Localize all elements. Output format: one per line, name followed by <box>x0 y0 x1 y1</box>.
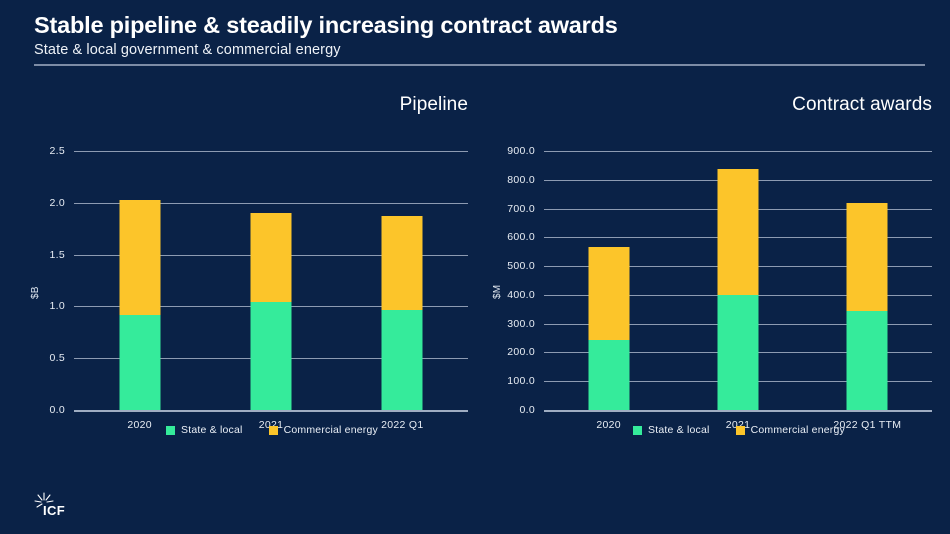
y-axis-tick-label: 2.0 <box>50 197 66 209</box>
bar-segment-commercial-energy[interactable] <box>382 216 423 309</box>
page-subtitle: State & local government & commercial en… <box>34 42 925 58</box>
legend-item-commercial-energy[interactable]: Commercial energy <box>269 424 378 436</box>
y-axis-tick-label: 500.0 <box>507 260 535 272</box>
bar-segment-state-local[interactable] <box>119 315 160 410</box>
page-title: Stable pipeline & steadily increasing co… <box>34 12 925 39</box>
header-divider <box>34 64 925 66</box>
bar-stack[interactable] <box>119 151 160 410</box>
legend-item-state-local[interactable]: State & local <box>633 424 710 436</box>
y-axis-label-contract-awards: $M <box>492 285 503 299</box>
bar-stack[interactable] <box>382 151 423 410</box>
bar-segment-state-local[interactable] <box>847 311 888 410</box>
chart-panel-pipeline: Pipeline $B 0.00.51.01.52.02.52020202120… <box>18 94 480 454</box>
chart-panel-contract-awards: Contract awards $M 0.0100.0200.0300.0400… <box>482 94 944 454</box>
bar-stack[interactable] <box>847 151 888 410</box>
legend-swatch-state-local <box>166 426 175 435</box>
bar-segment-commercial-energy[interactable] <box>847 203 888 311</box>
y-axis-tick-label: 900.0 <box>507 145 535 157</box>
legend-item-commercial-energy[interactable]: Commercial energy <box>736 424 845 436</box>
legend-label-commercial-energy: Commercial energy <box>751 424 845 436</box>
legend-label-commercial-energy: Commercial energy <box>284 424 378 436</box>
chart-title-contract-awards: Contract awards <box>792 94 932 116</box>
bar-stack[interactable] <box>588 151 629 410</box>
y-axis-tick-label: 0.0 <box>520 404 536 416</box>
bar-segment-commercial-energy[interactable] <box>251 213 292 302</box>
legend-label-state-local: State & local <box>648 424 710 436</box>
bar-segment-state-local[interactable] <box>588 340 629 410</box>
plot-area-pipeline: $B 0.00.51.01.52.02.5202020212022 Q1 <box>74 151 468 410</box>
bar-segment-commercial-energy[interactable] <box>588 247 629 340</box>
y-axis-tick-label: 600.0 <box>507 231 535 243</box>
bar-segment-state-local[interactable] <box>718 295 759 410</box>
bar-segment-state-local[interactable] <box>251 302 292 410</box>
bar-segment-commercial-energy[interactable] <box>119 200 160 315</box>
y-axis-tick-label: 1.0 <box>50 300 66 312</box>
bar-stack[interactable] <box>718 151 759 410</box>
y-axis-tick-label: 300.0 <box>507 318 535 330</box>
gridline: 0.0 <box>544 410 932 412</box>
bar-segment-commercial-energy[interactable] <box>718 169 759 294</box>
y-axis-tick-label: 400.0 <box>507 289 535 301</box>
legend-swatch-commercial-energy <box>736 426 745 435</box>
y-axis-tick-label: 0.5 <box>50 352 66 364</box>
y-axis-tick-label: 800.0 <box>507 174 535 186</box>
gridline: 0.0 <box>74 410 468 412</box>
legend-item-state-local[interactable]: State & local <box>166 424 243 436</box>
chart-title-pipeline: Pipeline <box>400 94 468 116</box>
y-axis-tick-label: 0.0 <box>50 404 66 416</box>
logo-wordmark: ICF <box>43 503 65 518</box>
bar-segment-state-local[interactable] <box>382 310 423 410</box>
legend-swatch-state-local <box>633 426 642 435</box>
legend-contract-awards: State & local Commercial energy <box>482 424 944 436</box>
y-axis-tick-label: 100.0 <box>507 375 535 387</box>
plot-area-contract-awards: $M 0.0100.0200.0300.0400.0500.0600.0700.… <box>544 151 932 410</box>
slide-canvas: Stable pipeline & steadily increasing co… <box>0 0 950 534</box>
legend-swatch-commercial-energy <box>269 426 278 435</box>
y-axis-tick-label: 2.5 <box>50 145 66 157</box>
legend-label-state-local: State & local <box>181 424 243 436</box>
icf-logo: ICF <box>32 490 78 522</box>
y-axis-label-pipeline: $B <box>30 286 41 299</box>
y-axis-tick-label: 700.0 <box>507 203 535 215</box>
y-axis-tick-label: 1.5 <box>50 249 66 261</box>
slide-header: Stable pipeline & steadily increasing co… <box>34 12 925 58</box>
bar-stack[interactable] <box>251 151 292 410</box>
legend-pipeline: State & local Commercial energy <box>18 424 480 436</box>
y-axis-tick-label: 200.0 <box>507 346 535 358</box>
